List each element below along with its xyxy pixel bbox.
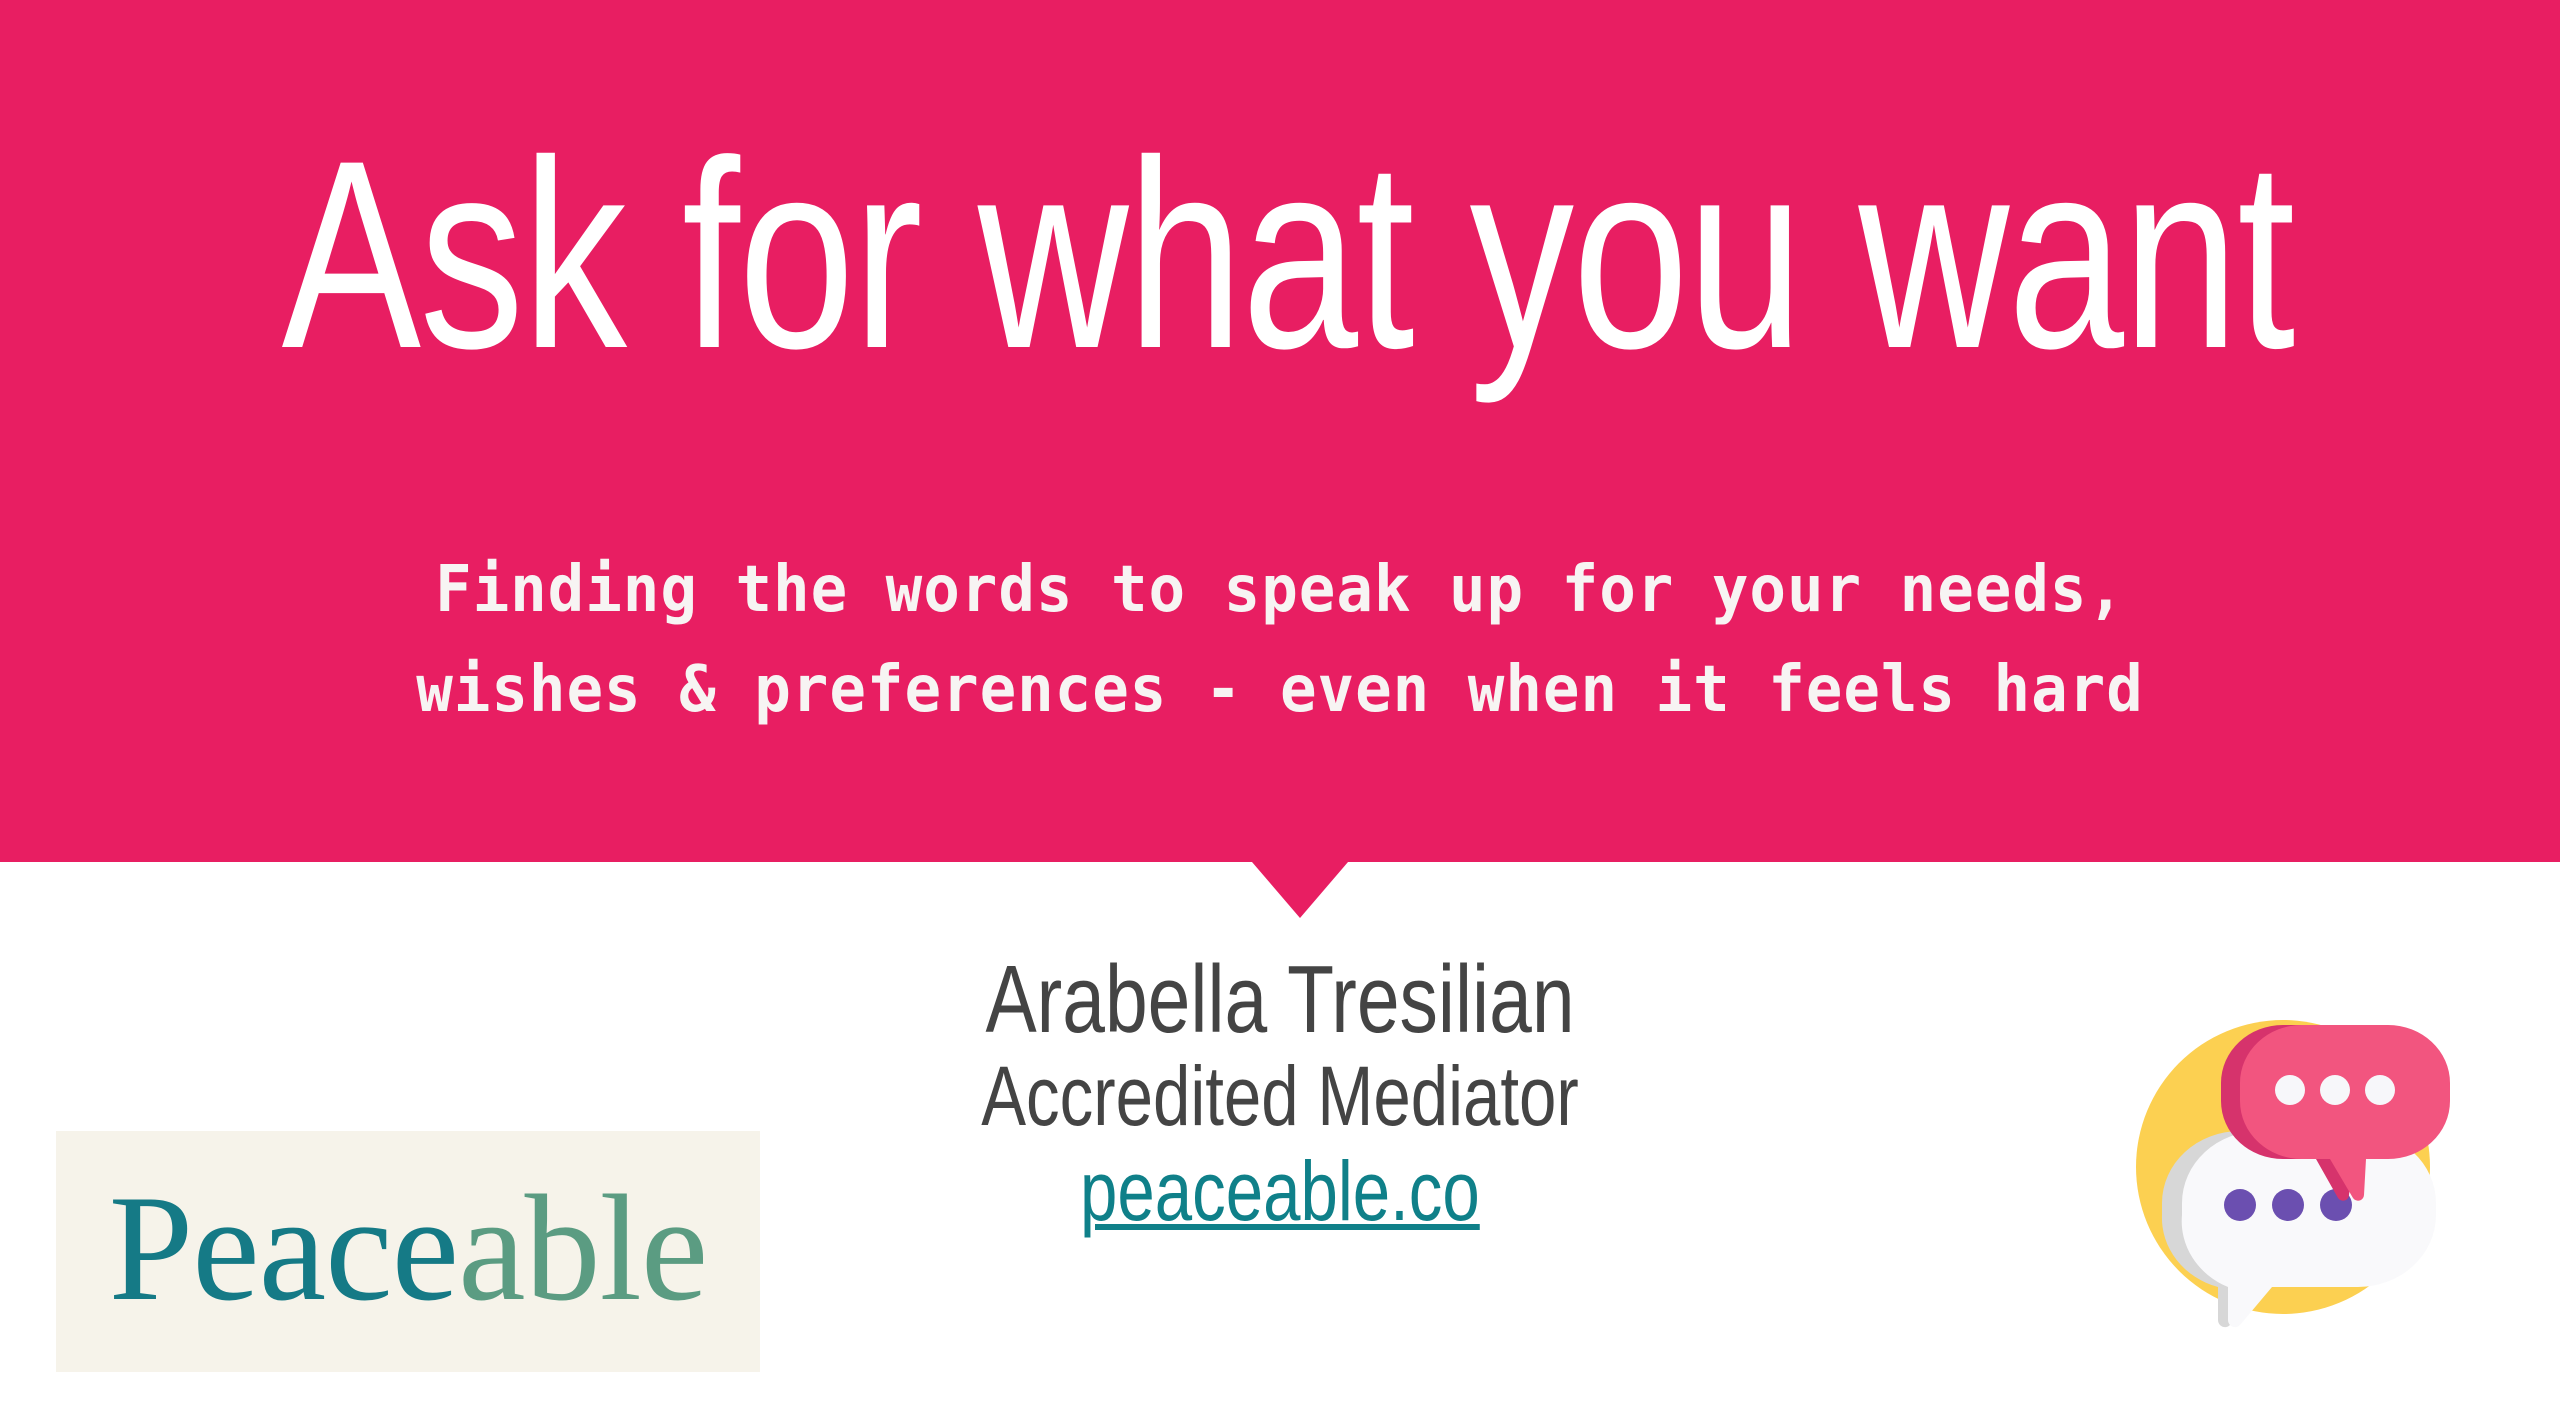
presenter-role: Accredited Mediator <box>880 1050 1680 1142</box>
slide-canvas: Ask for what you want Finding the words … <box>0 0 2560 1423</box>
page-title: Ask for what you want <box>282 120 2279 388</box>
subtitle-line-1: Finding the words to speak up for your n… <box>64 540 2496 640</box>
website-link[interactable]: peaceable.co <box>1080 1146 1480 1236</box>
presenter-name: Arabella Tresilian <box>880 952 1680 1048</box>
logo-word-part-two: able <box>458 1164 707 1332</box>
pink-bubble-dot-3 <box>2365 1075 2395 1105</box>
white-bubble-dot-2 <box>2272 1189 2304 1221</box>
pink-bubble-dot-2 <box>2320 1075 2350 1105</box>
chat-bubbles-icon <box>2120 990 2460 1330</box>
white-bubble-dot-1 <box>2224 1189 2256 1221</box>
peaceable-logo: Peaceable <box>56 1131 760 1372</box>
logo-wordmark: Peaceable <box>109 1172 708 1324</box>
subtitle-line-2: wishes & preferences - even when it feel… <box>64 640 2496 740</box>
subtitle-block: Finding the words to speak up for your n… <box>64 540 2496 740</box>
presenter-block: Arabella Tresilian Accredited Mediator p… <box>780 952 1780 1236</box>
banner-pointer-triangle <box>1252 862 1348 918</box>
logo-word-part-one: Peace <box>109 1164 458 1332</box>
headline-banner: Ask for what you want Finding the words … <box>0 0 2560 862</box>
pink-bubble-dot-1 <box>2275 1075 2305 1105</box>
